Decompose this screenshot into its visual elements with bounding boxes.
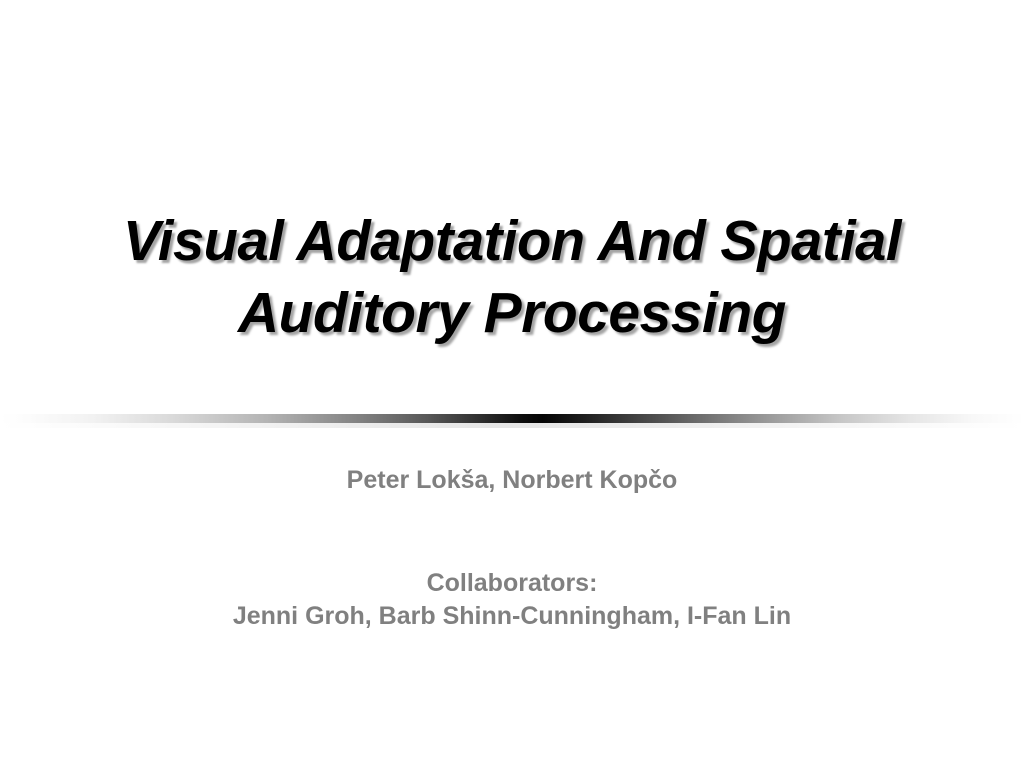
presentation-slide: Visual Adaptation And Spatial Auditory P… (0, 0, 1024, 768)
slide-title: Visual Adaptation And Spatial Auditory P… (0, 205, 1024, 349)
title-line-2: Auditory Processing (0, 277, 1024, 349)
collaborators-heading: Collaborators: (0, 567, 1024, 600)
collaborators-block: Collaborators: Jenni Groh, Barb Shinn-Cu… (0, 567, 1024, 633)
gradient-divider-shadow (0, 423, 1024, 428)
title-line-1: Visual Adaptation And Spatial (8, 205, 1017, 277)
gradient-divider (0, 414, 1024, 425)
authors-line: Peter Lokša, Norbert Kopčo (0, 464, 1024, 496)
collaborators-names: Jenni Groh, Barb Shinn-Cunningham, I-Fan… (0, 600, 1024, 633)
gradient-divider-bar (0, 414, 1024, 423)
